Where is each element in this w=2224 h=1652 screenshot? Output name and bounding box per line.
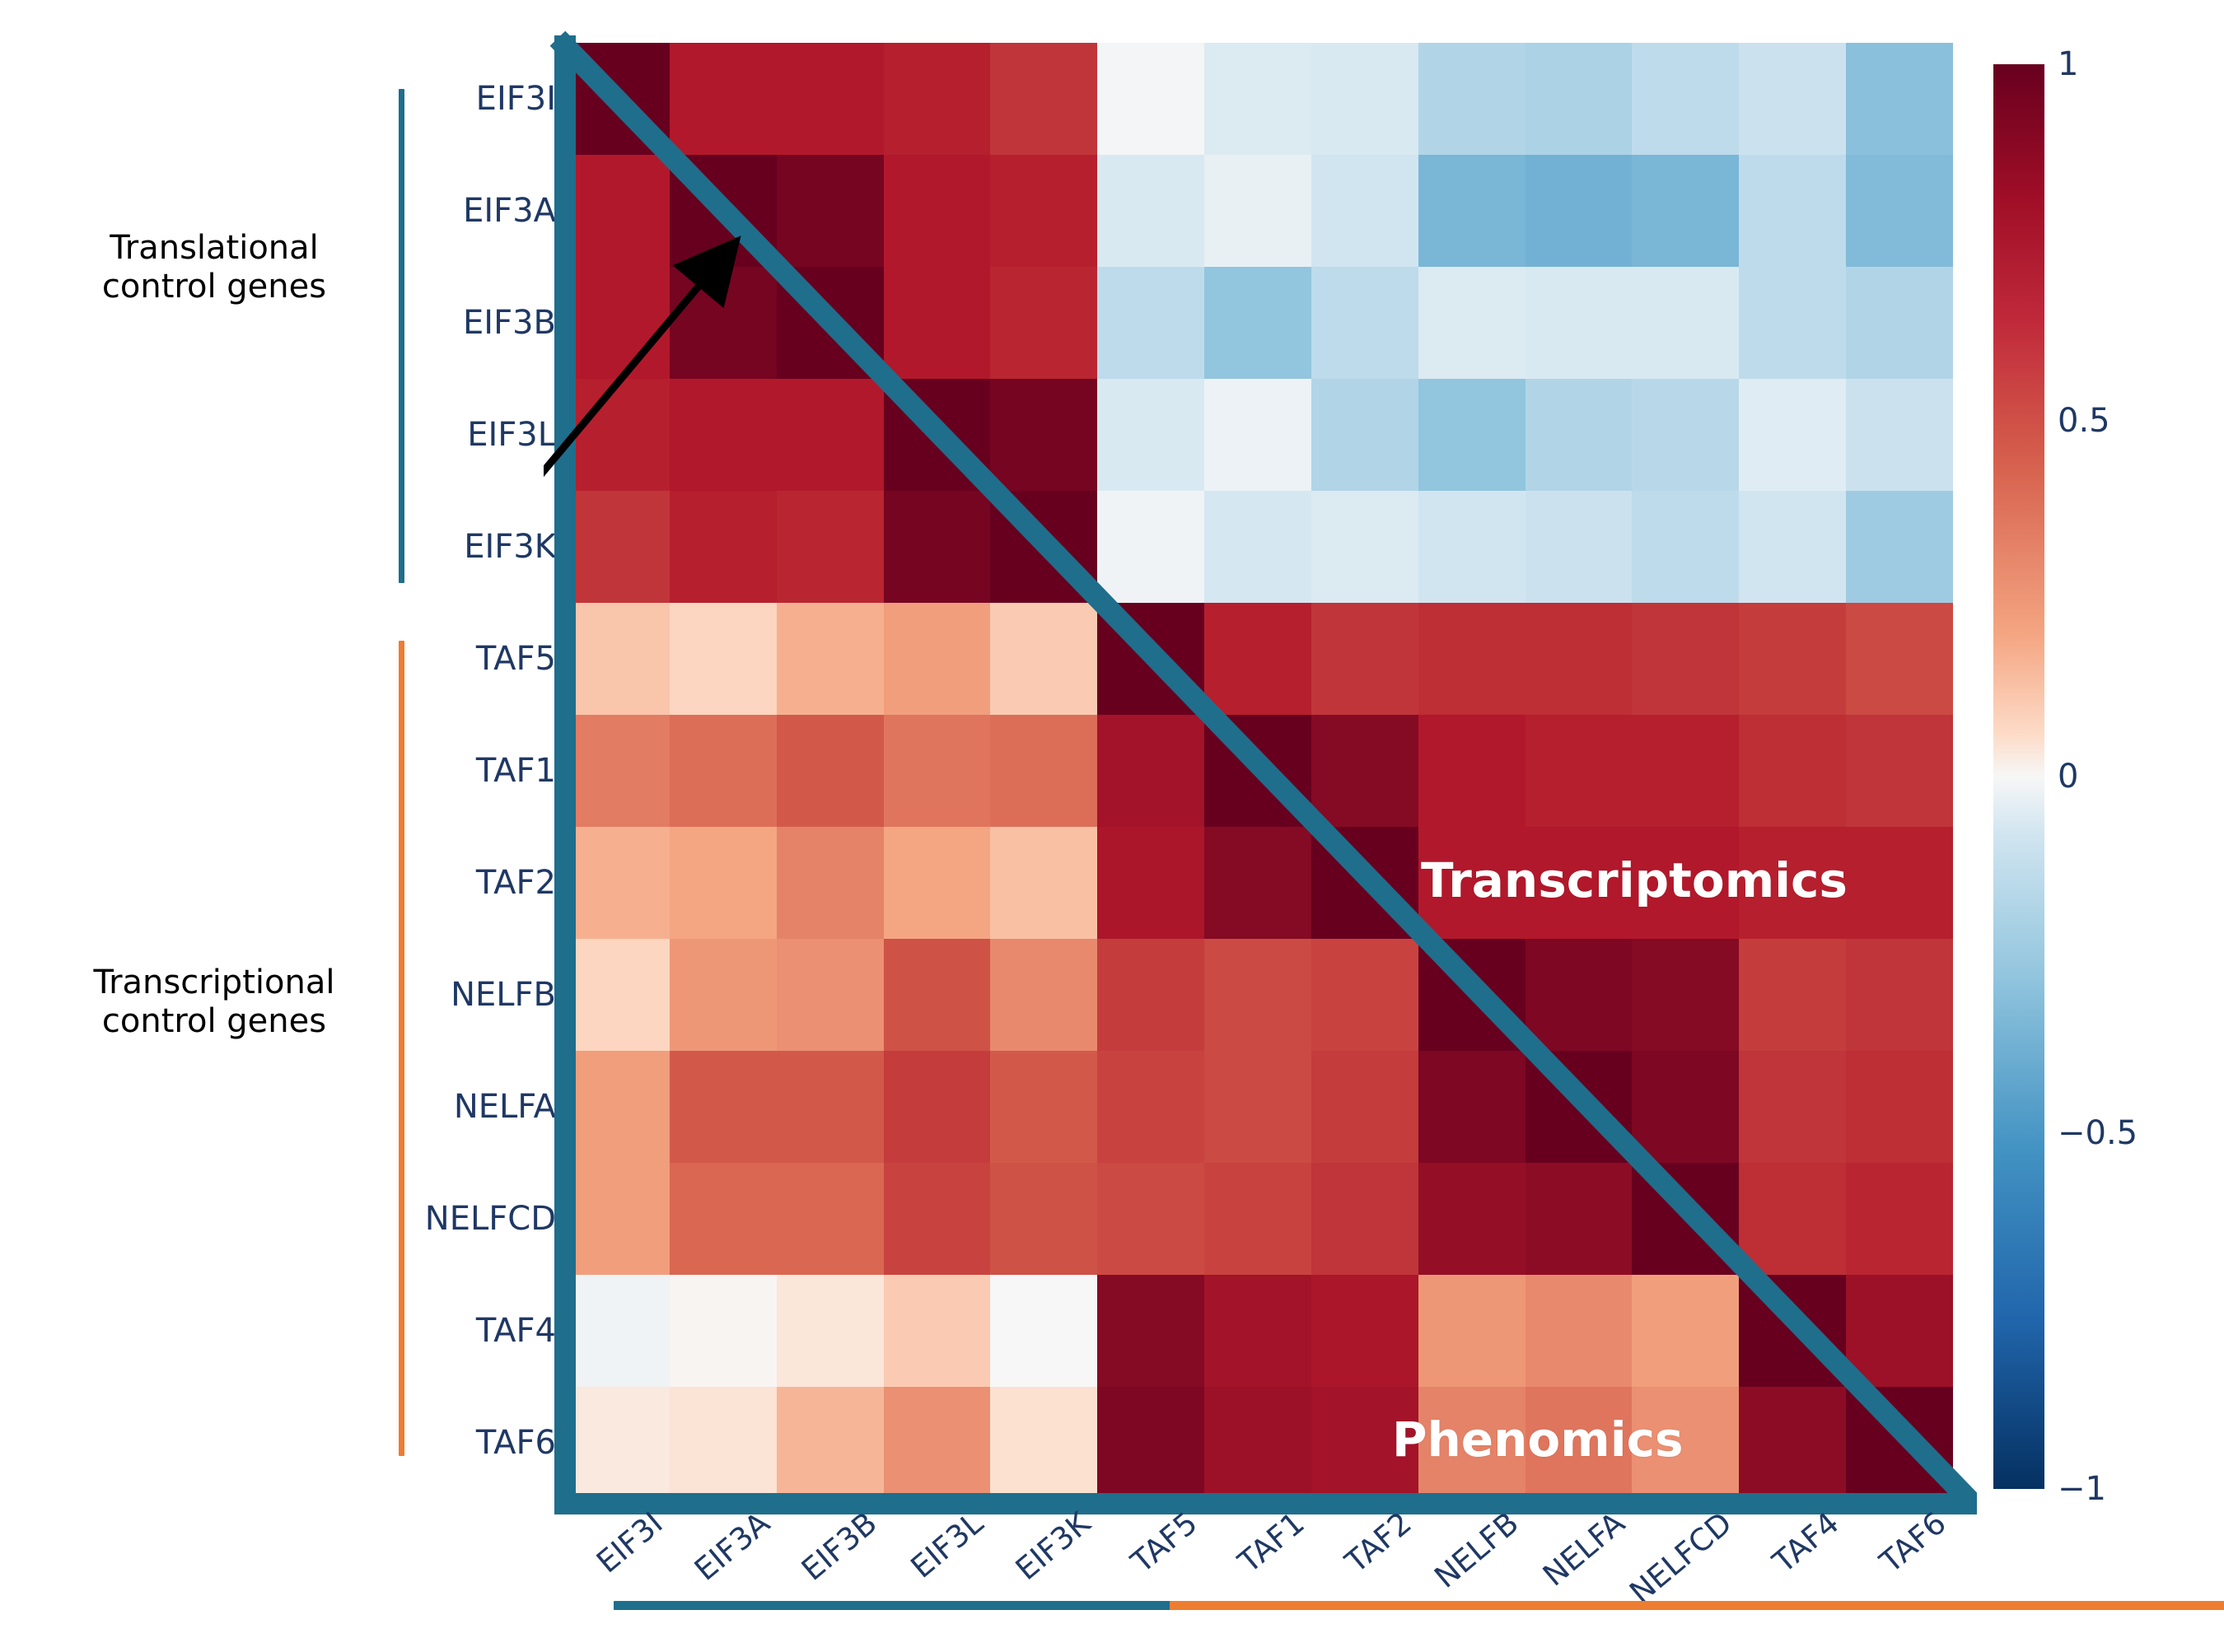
heatmap-cell [1846, 603, 1953, 715]
heatmap-cell [1204, 379, 1311, 491]
heatmap-cell [1418, 43, 1525, 155]
annotation-transcriptomics: Transcriptomics [1421, 852, 1848, 908]
heatmap-cell [1097, 491, 1204, 603]
heatmap-cell [990, 267, 1097, 379]
x-axis-label-taf4: TAF4 [1768, 1507, 1844, 1578]
heatmap-cell [1097, 1051, 1204, 1163]
heatmap-cell [1097, 1163, 1204, 1275]
y-axis-label-nelfa: NELFA [454, 1090, 556, 1123]
heatmap-cell [1418, 1275, 1525, 1387]
group-label-translational: Translational control genes [49, 229, 379, 306]
heatmap-cell [884, 1387, 991, 1499]
heatmap-cell [1632, 715, 1739, 827]
heatmap-cell [563, 939, 670, 1051]
heatmap-cell [884, 43, 991, 155]
heatmap-cell [1311, 939, 1418, 1051]
heatmap-cell [777, 155, 884, 267]
heatmap-cell [777, 827, 884, 939]
y-axis-label-eif3b: EIF3B [463, 306, 556, 339]
colorbar-gradient [1993, 64, 2044, 1489]
heatmap-cell [1846, 155, 1953, 267]
heatmap-cell [884, 827, 991, 939]
y-axis-label-eif3l: EIF3L [467, 418, 556, 451]
x-axis-label-eif3b: EIF3B [797, 1507, 882, 1586]
heatmap-cell [1311, 267, 1418, 379]
heatmap-cell [670, 155, 777, 267]
y-axis-tick-labels: EIF3IEIF3AEIF3BEIF3LEIF3KTAF5TAF1TAF2NEL… [354, 0, 556, 1652]
heatmap-cell [1311, 827, 1418, 939]
heatmap-cell [777, 1163, 884, 1275]
heatmap-cell [777, 1275, 884, 1387]
heatmap-cell [1204, 1163, 1311, 1275]
heatmap-cell [1525, 43, 1633, 155]
heatmap-cell [1097, 715, 1204, 827]
heatmap-cell [1418, 1051, 1525, 1163]
heatmap-cell [884, 491, 991, 603]
y-axis-label-taf2: TAF2 [476, 866, 556, 899]
heatmap-cell [1097, 939, 1204, 1051]
heatmap-cell [1525, 491, 1633, 603]
x-axis-label-eif3i: EIF3I [591, 1507, 668, 1578]
heatmap-cell [1204, 715, 1311, 827]
heatmap-cell [670, 1275, 777, 1387]
heatmap-cell [1525, 155, 1633, 267]
heatmap-cell [777, 1387, 884, 1499]
y-axis-label-taf4: TAF4 [476, 1314, 556, 1347]
heatmap-cell [1846, 43, 1953, 155]
x-axis-label-eif3l: EIF3L [906, 1507, 988, 1583]
heatmap-cell [1097, 155, 1204, 267]
heatmap-cell [1632, 603, 1739, 715]
heatmap-cell [1525, 1051, 1633, 1163]
heatmap-cell [1204, 1051, 1311, 1163]
heatmap-cell [990, 1051, 1097, 1163]
colorbar-tick-neg1: −1 [2058, 1472, 2106, 1505]
heatmap-cell [1097, 1275, 1204, 1387]
heatmap-cell [563, 43, 670, 155]
heatmap-cell [1204, 603, 1311, 715]
heatmap-cell [1311, 379, 1418, 491]
heatmap-cell [1204, 155, 1311, 267]
heatmap-cell [1739, 715, 1846, 827]
y-axis-label-eif3k: EIF3K [464, 530, 556, 563]
heatmap-cell [1311, 491, 1418, 603]
heatmap-cell [563, 715, 670, 827]
x-axis-tick-labels: EIF3IEIF3AEIF3BEIF3LEIF3KTAF5TAF1TAF2NEL… [563, 1507, 1953, 1647]
heatmap-cell [1846, 939, 1953, 1051]
heatmap-cell [1204, 491, 1311, 603]
x-axis-label-nelfb: NELFB [1429, 1507, 1523, 1593]
heatmap-cell [884, 603, 991, 715]
heatmap-cell-grid [563, 43, 1953, 1499]
heatmap-cell [563, 603, 670, 715]
heatmap-cell [990, 939, 1097, 1051]
heatmap-cell [990, 1163, 1097, 1275]
heatmap-cell [1097, 43, 1204, 155]
heatmap-cell [1632, 43, 1739, 155]
heatmap-cell [1418, 715, 1525, 827]
heatmap-cell [884, 1051, 991, 1163]
heatmap-cell [990, 603, 1097, 715]
heatmap-cell [1418, 491, 1525, 603]
group-bracket-transcriptional-horizontal [1170, 1601, 2224, 1610]
heatmap-cell [1632, 1275, 1739, 1387]
annotation-phenomics: Phenomics [1392, 1412, 1684, 1468]
heatmap-cell [884, 1275, 991, 1387]
heatmap-cell [990, 43, 1097, 155]
heatmap-cell [1525, 939, 1633, 1051]
heatmap-cell [1311, 155, 1418, 267]
colorbar-tick-neg0p5: −0.5 [2058, 1117, 2138, 1150]
heatmap-cell [777, 1051, 884, 1163]
heatmap-cell [1632, 1163, 1739, 1275]
x-axis-label-eif3a: EIF3A [689, 1507, 775, 1585]
heatmap-cell [670, 827, 777, 939]
heatmap-cell [670, 1163, 777, 1275]
heatmap-cell [1632, 1051, 1739, 1163]
y-axis-label-nelfb: NELFB [451, 978, 556, 1011]
heatmap-cell [884, 715, 991, 827]
heatmap-cell [1846, 1275, 1953, 1387]
heatmap-cell [1739, 379, 1846, 491]
y-axis-label-eif3i: EIF3I [476, 82, 556, 115]
heatmap-cell [1739, 1051, 1846, 1163]
heatmap-cell [670, 267, 777, 379]
y-axis-label-taf5: TAF5 [476, 642, 556, 675]
heatmap-cell [1632, 939, 1739, 1051]
heatmap-cell [1739, 155, 1846, 267]
heatmap-cell [1739, 491, 1846, 603]
colorbar-tick-0: 0 [2058, 760, 2078, 793]
heatmap-cell [563, 1387, 670, 1499]
heatmap-cell [670, 939, 777, 1051]
heatmap-cell [1311, 1051, 1418, 1163]
heatmap-cell [777, 715, 884, 827]
heatmap-cell [1525, 715, 1633, 827]
heatmap-cell [1204, 43, 1311, 155]
heatmap-cell [1846, 379, 1953, 491]
heatmap-cell [1846, 827, 1953, 939]
heatmap-cell [1846, 1387, 1953, 1499]
heatmap-cell [990, 715, 1097, 827]
heatmap-cell [1311, 715, 1418, 827]
colorbar-tick-0p5: 0.5 [2058, 404, 2110, 437]
x-axis-label-taf1: TAF1 [1233, 1507, 1310, 1578]
x-axis-label-nelfa: NELFA [1538, 1507, 1630, 1591]
heatmap-cell [884, 267, 991, 379]
heatmap-cell [1632, 155, 1739, 267]
heatmap-cell [563, 155, 670, 267]
heatmap-cell [563, 827, 670, 939]
heatmap-cell [1311, 43, 1418, 155]
heatmap-cell [1097, 267, 1204, 379]
heatmap-cell [1418, 939, 1525, 1051]
heatmap-cell [990, 1275, 1097, 1387]
heatmap-cell [990, 827, 1097, 939]
heatmap-cell [777, 43, 884, 155]
heatmap-cell [1632, 267, 1739, 379]
heatmap-cell [1632, 379, 1739, 491]
heatmap-cell [1311, 1163, 1418, 1275]
heatmap-cell [1846, 267, 1953, 379]
heatmap-cell [1525, 267, 1633, 379]
heatmap-cell [1204, 827, 1311, 939]
heatmap-cell [1097, 603, 1204, 715]
heatmap-cell [1311, 603, 1418, 715]
heatmap-cell [1632, 491, 1739, 603]
heatmap-cell [670, 491, 777, 603]
heatmap-cell [563, 1275, 670, 1387]
heatmap-cell [670, 43, 777, 155]
heatmap-cell [670, 603, 777, 715]
heatmap-cell [1204, 939, 1311, 1051]
heatmap-cell [777, 267, 884, 379]
heatmap-cell [990, 155, 1097, 267]
heatmap-cell [1739, 267, 1846, 379]
heatmap-cell [777, 603, 884, 715]
colorbar-tick-1: 1 [2058, 48, 2078, 81]
heatmap-cell [1311, 1275, 1418, 1387]
heatmap-cell [563, 1051, 670, 1163]
heatmap-cell [1739, 43, 1846, 155]
heatmap-cell [1418, 603, 1525, 715]
heatmap-cell [1418, 1163, 1525, 1275]
heatmap-cell [1525, 1275, 1633, 1387]
y-axis-label-nelfcd: NELFCD [425, 1202, 556, 1235]
heatmap-cell [990, 491, 1097, 603]
heatmap-cell [990, 1387, 1097, 1499]
y-axis-label-taf1: TAF1 [476, 754, 556, 787]
heatmap-cell [563, 491, 670, 603]
heatmap-cell [1525, 1163, 1633, 1275]
heatmap-cell [777, 939, 884, 1051]
heatmap-cell [670, 1051, 777, 1163]
heatmap-cell [1739, 939, 1846, 1051]
heatmap-cell [670, 379, 777, 491]
x-axis-label-taf5: TAF5 [1126, 1507, 1203, 1578]
heatmap-cell [884, 939, 991, 1051]
heatmap-cell [884, 155, 991, 267]
heatmap-cell [1739, 1275, 1846, 1387]
heatmap-cell [563, 267, 670, 379]
heatmap-cell [563, 1163, 670, 1275]
x-axis-label-nelfcd: NELFCD [1625, 1507, 1738, 1608]
heatmap-cell [1097, 1387, 1204, 1499]
heatmap-cell [1204, 267, 1311, 379]
heatmap-cell [1846, 1163, 1953, 1275]
heatmap-cell [1846, 715, 1953, 827]
heatmap-cell [1204, 1387, 1311, 1499]
x-axis-label-taf2: TAF2 [1340, 1507, 1417, 1578]
heatmap-cell [670, 1387, 777, 1499]
heatmap-cell [1739, 1163, 1846, 1275]
heatmap-cell [1846, 491, 1953, 603]
y-axis-label-eif3a: EIF3A [463, 194, 556, 227]
heatmap-cell [1739, 1387, 1846, 1499]
x-axis-label-eif3k: EIF3K [1011, 1507, 1096, 1585]
heatmap-cell [1525, 603, 1633, 715]
heatmap-cell [1097, 379, 1204, 491]
heatmap-cell [1418, 267, 1525, 379]
heatmap-cell [1846, 1051, 1953, 1163]
heatmap-cell [1097, 827, 1204, 939]
heatmap-cell [1739, 603, 1846, 715]
heatmap-cell [1525, 379, 1633, 491]
y-axis-label-taf6: TAF6 [476, 1426, 556, 1459]
heatmap-cell [670, 715, 777, 827]
heatmap-cell [990, 379, 1097, 491]
heatmap-cell [884, 1163, 991, 1275]
heatmap-cell [1418, 379, 1525, 491]
heatmap-cell [777, 379, 884, 491]
heatmap-cell [1204, 1275, 1311, 1387]
group-label-transcriptional: Transcriptional control genes [41, 964, 387, 1041]
x-axis-label-taf6: TAF6 [1875, 1507, 1951, 1578]
heatmap-plot-area [563, 43, 1953, 1499]
heatmap-cell [1418, 155, 1525, 267]
heatmap-cell [777, 491, 884, 603]
heatmap-cell [563, 379, 670, 491]
colorbar: 10.50−0.5−1 [1993, 64, 2208, 1489]
heatmap-cell [884, 379, 991, 491]
